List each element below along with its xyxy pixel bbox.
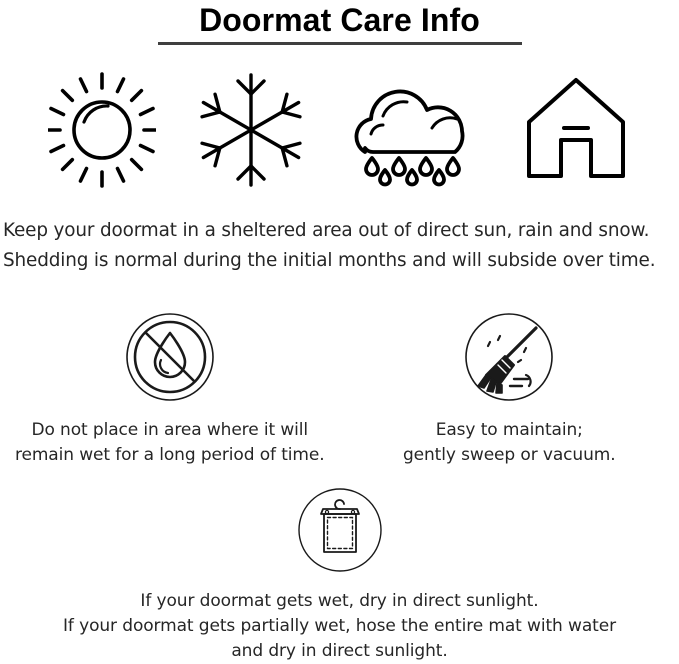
care-item-caption: Do not place in area where it will remai… — [15, 418, 325, 468]
care-item-caption: Easy to maintain; gently sweep or vacuum… — [403, 418, 616, 468]
house-icon — [521, 72, 631, 192]
care-caption-line-1: Do not place in area where it will — [15, 418, 325, 443]
drying-caption: If your doormat gets wet, dry in direct … — [63, 589, 616, 664]
drying-caption-line-3: and dry in direct sunlight. — [63, 639, 616, 664]
no-water-icon — [125, 312, 215, 406]
hanging-mat-icon — [297, 487, 383, 577]
drying-caption-line-1: If your doormat gets wet, dry in direct … — [63, 589, 616, 614]
intro-paragraph: Keep your doormat in a sheltered area ou… — [3, 216, 679, 276]
care-caption-line-1: Easy to maintain; — [403, 418, 616, 443]
rain-cloud-icon — [347, 72, 477, 192]
sun-icon — [48, 72, 156, 192]
snowflake-icon — [200, 72, 302, 192]
broom-icon — [464, 312, 554, 406]
drying-instructions: If your doormat gets wet, dry in direct … — [0, 487, 679, 664]
care-caption-line-2: gently sweep or vacuum. — [403, 443, 616, 468]
intro-line-2: Shedding is normal during the initial mo… — [3, 246, 679, 276]
title-underline-rule — [158, 42, 522, 45]
weather-icon-row — [0, 72, 679, 192]
care-item-no-standing-water: Do not place in area where it will remai… — [0, 312, 340, 468]
care-item-easy-maintain: Easy to maintain; gently sweep or vacuum… — [340, 312, 679, 468]
care-caption-line-2: remain wet for a long period of time. — [15, 443, 325, 468]
header: Doormat Care Info — [0, 0, 679, 45]
doormat-care-info-page: Doormat Care Info — [0, 0, 679, 655]
care-items-row: Do not place in area where it will remai… — [0, 312, 679, 468]
intro-line-1: Keep your doormat in a sheltered area ou… — [3, 216, 679, 246]
page-title: Doormat Care Info — [0, 0, 679, 38]
drying-caption-line-2: If your doormat gets partially wet, hose… — [63, 614, 616, 639]
